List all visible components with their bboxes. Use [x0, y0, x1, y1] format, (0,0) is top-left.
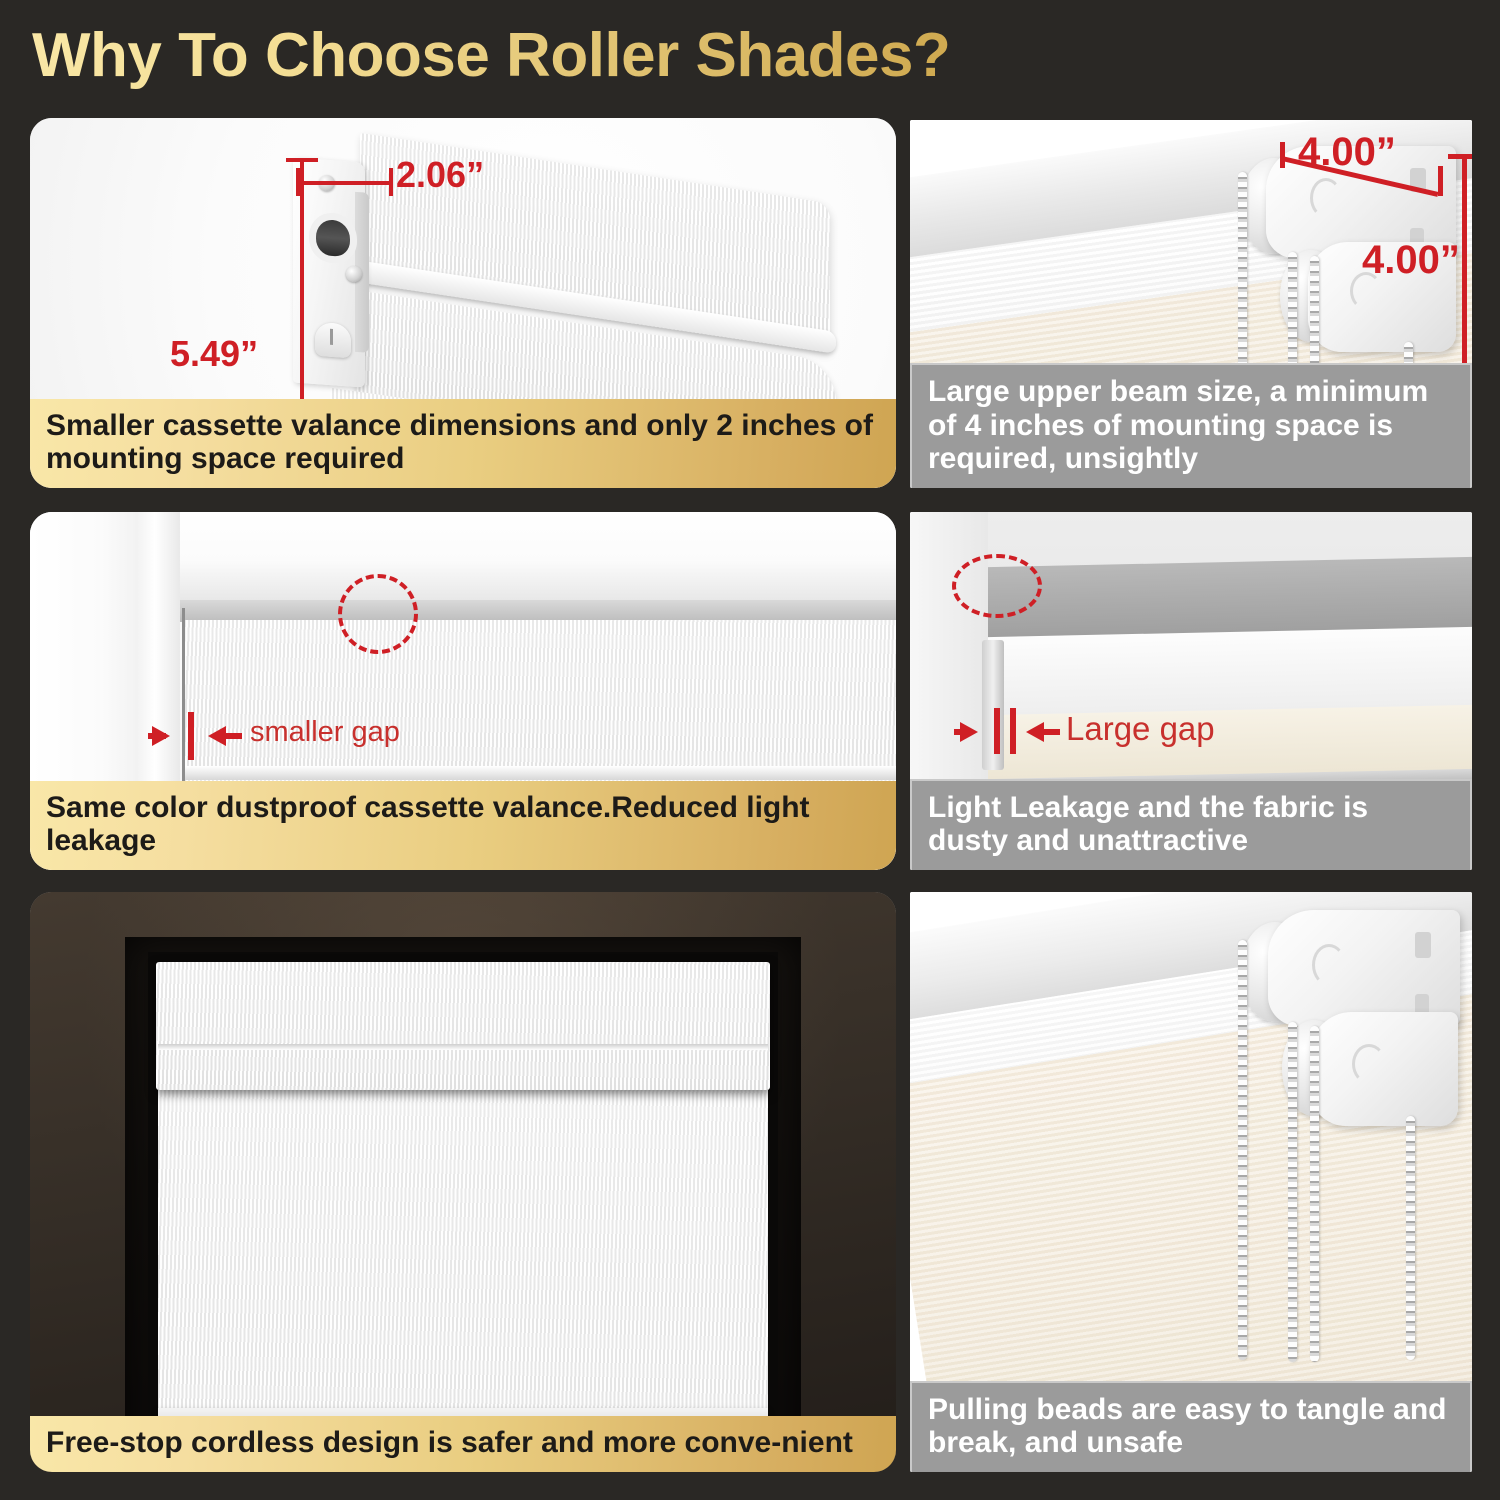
width-dimension-label: 2.06”: [396, 154, 484, 196]
gap-callout-label: Large gap: [1066, 710, 1215, 748]
bead-chain: [1288, 1022, 1297, 1362]
gap-marker: [1010, 708, 1016, 754]
bead-chain: [1238, 940, 1247, 1360]
panel-dustproof-valance[interactable]: smaller gap Same color dustproof cassett…: [30, 512, 896, 870]
bead-chain: [1310, 1026, 1319, 1362]
panel-caption: Same color dustproof cassette valance.Re…: [30, 781, 896, 870]
gap-arrow-left-icon: [1026, 722, 1044, 742]
width-dimension-label: 4.00”: [1298, 130, 1396, 175]
gap-marker: [188, 712, 194, 760]
gap-callout-label: smaller gap: [250, 716, 400, 749]
highlight-circle: [338, 574, 418, 654]
panel-pulling-beads[interactable]: Pulling beads are easy to tangle and bre…: [910, 892, 1472, 1472]
height-dimension-label: 5.49”: [170, 333, 258, 375]
comparison-grid: 2.06” 5.49” Smaller cassette valance dim…: [0, 0, 1500, 1500]
highlight-circle: [952, 554, 1042, 618]
panel-caption: Pulling beads are easy to tangle and bre…: [910, 1381, 1472, 1472]
panel-large-upper-beam[interactable]: 4.00” 4.00” Large upper beam size, a min…: [910, 120, 1472, 488]
height-dimension-line: [1462, 156, 1467, 371]
panel-caption: Large upper beam size, a minimum of 4 in…: [910, 363, 1472, 488]
width-dimension-line: [298, 181, 393, 185]
room-window-photo: [30, 892, 896, 1472]
panel-light-leakage[interactable]: Large gap Light Leakage and the fabric i…: [910, 512, 1472, 870]
cassette-valance: [156, 962, 770, 1090]
panel-caption: Free-stop cordless design is safer and m…: [30, 1416, 896, 1472]
gap-marker: [994, 708, 1000, 754]
gap-arrow-left-icon: [208, 726, 226, 746]
height-dimension-label: 4.00”: [1362, 238, 1460, 283]
panel-cordless-design[interactable]: Free-stop cordless design is safer and m…: [30, 892, 896, 1472]
panel-caption: Light Leakage and the fabric is dusty an…: [910, 779, 1472, 870]
panel-smaller-cassette[interactable]: 2.06” 5.49” Smaller cassette valance dim…: [30, 118, 896, 488]
bead-chain: [1406, 1116, 1415, 1360]
panel-caption: Smaller cassette valance dimensions and …: [30, 399, 896, 488]
